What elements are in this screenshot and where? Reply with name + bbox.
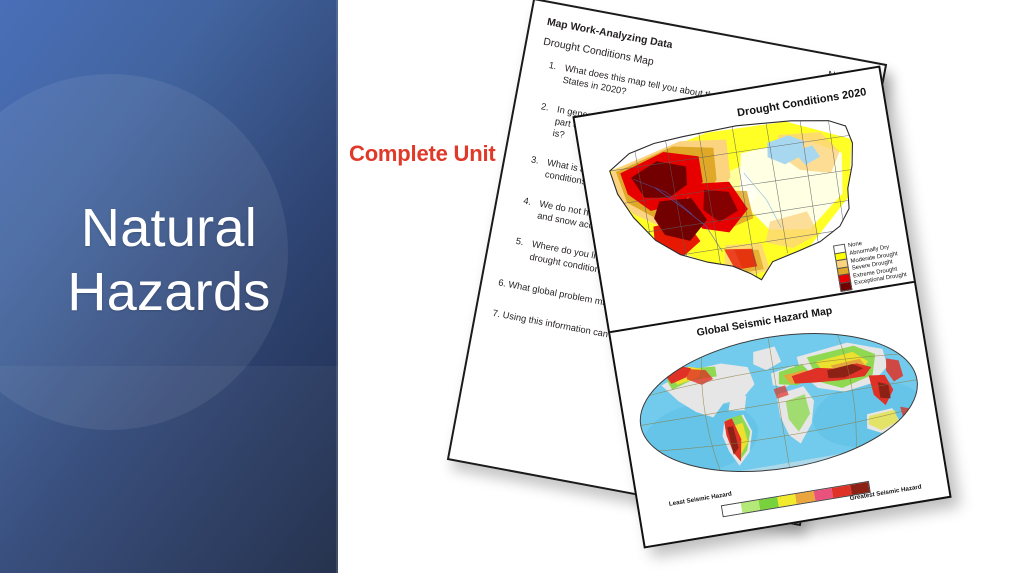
seismic-color-bar — [721, 481, 871, 517]
legend-swatch-exceptional-drought — [839, 281, 852, 291]
seismic-swatch-2 — [759, 497, 779, 510]
seismic-swatch-3 — [777, 494, 797, 507]
complete-unit-caption: Complete Unit — [349, 141, 496, 167]
decorative-band — [0, 366, 338, 573]
seismic-swatch-0 — [722, 503, 742, 516]
global-seismic-hazard-map-image — [626, 310, 931, 495]
seismic-swatch-6 — [832, 485, 852, 498]
seismic-swatch-4 — [795, 491, 815, 504]
drought-map-legend: None Abnormally Dry Moderate Drought Sev… — [833, 235, 908, 291]
slide-title: Natural Hazards — [0, 196, 338, 324]
slide-canvas: Natural Hazards Complete Unit Map Work-A… — [0, 0, 1024, 573]
title-panel: Natural Hazards — [0, 0, 338, 573]
seismic-swatch-1 — [740, 500, 760, 513]
seismic-swatch-5 — [813, 488, 833, 501]
